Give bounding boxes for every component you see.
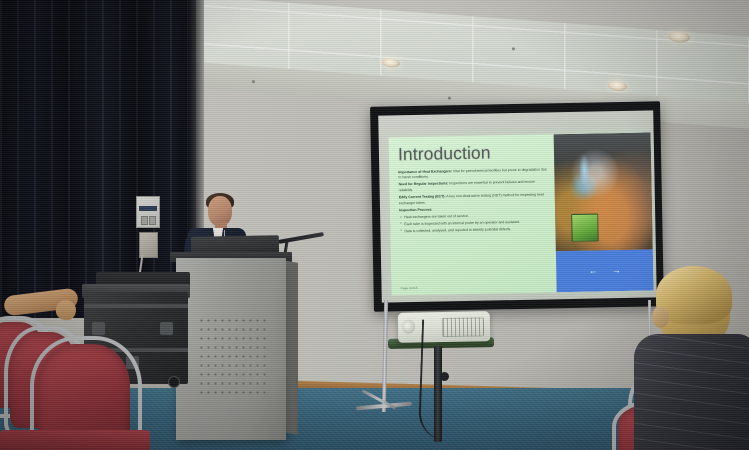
audience-member-right: [636, 266, 749, 450]
slide-paragraph: Need for Regular Inspections: Inspection…: [399, 180, 548, 194]
av-wall-panel[interactable]: [136, 196, 160, 228]
flight-case-wheel: [168, 376, 180, 388]
audience-member-right-ear: [652, 306, 669, 328]
slide-body: Importance of Heat Exchangers: Vital for…: [398, 167, 548, 235]
soffit-screw: [252, 80, 255, 83]
chair-seat-left[interactable]: [0, 430, 150, 450]
slide-bullet-list: Heat exchangers are taken out of service…: [399, 212, 548, 234]
window-curtain: [0, 0, 196, 318]
slide-title: Introduction: [398, 143, 547, 163]
projection-screen: Introduction Importance of Heat Exchange…: [370, 101, 664, 312]
flight-case-latch: [92, 322, 105, 335]
av-panel-button[interactable]: [141, 216, 148, 225]
soffit-screw: [448, 97, 451, 100]
slide-text-column: Introduction Importance of Heat Exchange…: [389, 134, 557, 295]
slide-paragraph: Importance of Heat Exchangers: Vital for…: [398, 167, 547, 181]
arrow-right-icon[interactable]: →: [612, 266, 621, 275]
slide-paragraph: Eddy Current Testing (ECT): A key non-de…: [399, 193, 548, 207]
presentation-slide: Introduction Importance of Heat Exchange…: [389, 132, 654, 295]
slide-page-footer: Page 04/15: [401, 286, 418, 290]
conference-presentation-photo: Introduction Importance of Heat Exchange…: [0, 0, 749, 450]
flight-case-latch: [160, 322, 173, 335]
slide-bullet: Data is collected, analysed, and reporte…: [404, 226, 548, 234]
slide-paragraph-lead: Inspection Process:: [399, 208, 432, 213]
podium: [176, 258, 286, 440]
slide-photo: [554, 132, 653, 251]
slide-paragraph-lead: Eddy Current Testing (ECT):: [399, 194, 446, 199]
flight-case-rail: [84, 304, 188, 308]
ceiling-fixture-dot: [512, 47, 515, 50]
slide-paragraph-lead: Need for Regular Inspections:: [399, 182, 449, 187]
audience-member-right-jacket: [634, 334, 749, 450]
slide-photo-light-glow: [579, 155, 589, 186]
slide-paragraph-lead: Importance of Heat Exchangers:: [398, 169, 452, 174]
av-panel-display: [139, 206, 157, 211]
slide-photo-laptop: [571, 213, 599, 241]
projector-lens: [402, 320, 415, 334]
projection-screen-surface: Introduction Importance of Heat Exchange…: [378, 110, 657, 302]
projector-stand-knob: [440, 372, 449, 381]
av-panel-button[interactable]: [149, 216, 156, 225]
arrow-left-icon[interactable]: ←: [589, 266, 598, 275]
podium-speaker-grille: [198, 316, 268, 394]
jacket-quilting: [634, 334, 749, 450]
